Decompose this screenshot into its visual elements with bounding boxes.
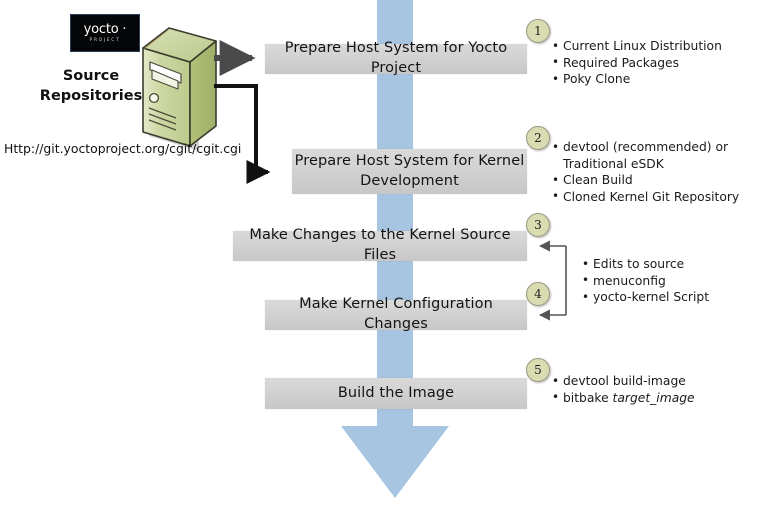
workflow-diagram: yocto · PROJECT Source Repositories Http… xyxy=(0,0,769,517)
steps-3-4-bullet-list: Edits to source menuconfig yocto-kernel … xyxy=(582,256,762,306)
list-item: Clean Build xyxy=(552,172,764,189)
list-item-emphasis: target_image xyxy=(613,391,695,405)
step-5-bullet-list: devtool build-image bitbake target_image xyxy=(552,373,762,406)
list-item: Current Linux Distribution xyxy=(552,38,762,55)
list-item: bitbake target_image xyxy=(552,390,762,407)
step-number-4: 4 xyxy=(526,282,550,306)
source-repositories-label: Source Repositories xyxy=(32,66,150,106)
list-item: Edits to source xyxy=(582,256,762,273)
list-item: Poky Clone xyxy=(552,71,762,88)
yocto-logo-subtitle: PROJECT xyxy=(89,37,120,44)
connector-bracket-steps-3-4 xyxy=(540,246,566,315)
list-item: Required Packages xyxy=(552,55,762,72)
yocto-project-logo: yocto · PROJECT xyxy=(70,14,140,52)
list-item-text: bitbake xyxy=(563,391,613,405)
step-2-bullet-list: devtool (recommended) or Traditional eSD… xyxy=(552,139,764,205)
list-item: devtool (recommended) or Traditional eSD… xyxy=(552,139,764,172)
list-item: yocto-kernel Script xyxy=(582,289,762,306)
step-number-5: 5 xyxy=(526,358,550,382)
list-item-text: devtool build-image xyxy=(563,374,686,388)
main-flow-arrow-head xyxy=(341,426,449,498)
list-item: devtool build-image xyxy=(552,373,762,390)
step-number-2: 2 xyxy=(526,126,550,150)
list-item: menuconfig xyxy=(582,273,762,290)
list-item: Cloned Kernel Git Repository xyxy=(552,189,764,206)
yocto-logo-wordmark: yocto · xyxy=(84,23,127,36)
connector-source-to-step2 xyxy=(214,86,268,172)
step-box-prepare-host-yocto[interactable]: Prepare Host System for Yocto Project xyxy=(265,44,527,74)
step-1-bullet-list: Current Linux Distribution Required Pack… xyxy=(552,38,762,88)
step-box-build-the-image[interactable]: Build the Image xyxy=(265,378,527,409)
source-repositories-url: Http://git.yoctoproject.org/cgit/cgit.cg… xyxy=(4,141,241,156)
step-box-prepare-host-kernel[interactable]: Prepare Host System for Kernel Developme… xyxy=(292,149,527,194)
step-number-1: 1 xyxy=(526,19,550,43)
step-box-make-kernel-config-changes[interactable]: Make Kernel Configuration Changes xyxy=(265,300,527,330)
server-tower-icon xyxy=(143,28,216,151)
step-box-make-kernel-source-changes[interactable]: Make Changes to the Kernel Source Files xyxy=(233,231,527,261)
step-number-3: 3 xyxy=(526,213,550,237)
